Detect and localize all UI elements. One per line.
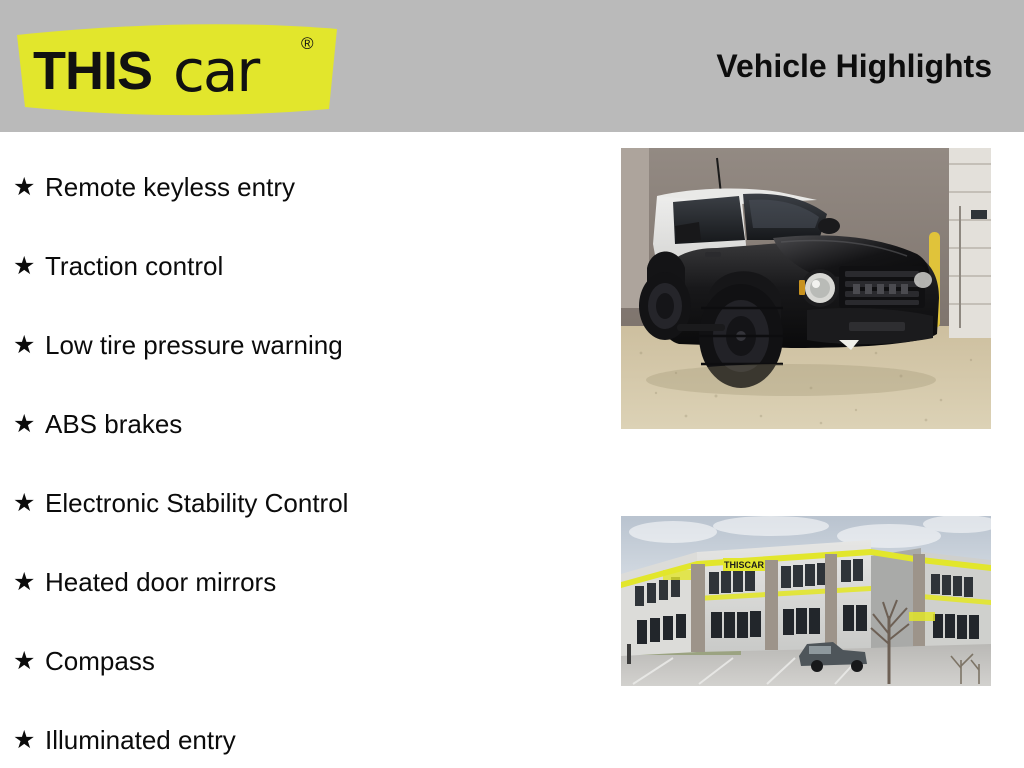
list-item: ★ Traction control (0, 227, 600, 306)
list-item: ★ Heated door mirrors (0, 543, 600, 622)
list-item-label: Remote keyless entry (45, 172, 295, 202)
list-item: ★ Illuminated entry (0, 701, 600, 768)
list-item: ★ ABS brakes (0, 385, 600, 464)
list-item-label: ABS brakes (45, 409, 182, 439)
building-sign-side (909, 612, 935, 621)
star-icon: ★ (13, 701, 35, 768)
star-icon: ★ (13, 148, 35, 227)
star-icon: ★ (13, 464, 35, 543)
list-item-label: Electronic Stability Control (45, 488, 348, 518)
slide-root: THIS car ® Vehicle Highlights ★ Remote k… (0, 0, 1024, 768)
thiscar-logo[interactable]: THIS car ® (11, 19, 343, 119)
star-icon: ★ (13, 385, 35, 464)
dealership-photo[interactable]: THISCAR (621, 516, 991, 686)
star-icon: ★ (13, 227, 35, 306)
lot-pole (627, 644, 631, 664)
building-sign-main: THISCAR (723, 558, 765, 571)
list-item-label: Compass (45, 646, 155, 676)
list-item: ★ Compass (0, 622, 600, 701)
page-title: Vehicle Highlights (716, 48, 992, 85)
list-item: ★ Remote keyless entry (0, 148, 600, 227)
list-item-label: Traction control (45, 251, 223, 281)
vehicle-highlights-list: ★ Remote keyless entry ★ Traction contro… (0, 148, 600, 768)
list-item: ★ Low tire pressure warning (0, 306, 600, 385)
vehicle-photo-image (621, 148, 991, 429)
logo-word-car: car (173, 37, 260, 105)
list-item-label: Illuminated entry (45, 725, 236, 755)
garage-door (949, 148, 991, 338)
logo-registered-mark: ® (301, 34, 314, 53)
dealership-photo-image: THISCAR (621, 516, 991, 686)
list-item-label: Low tire pressure warning (45, 330, 343, 360)
star-icon: ★ (13, 543, 35, 622)
building-sign-text: THISCAR (724, 560, 764, 570)
list-item: ★ Electronic Stability Control (0, 464, 600, 543)
building-sign-secondary (663, 570, 691, 580)
star-icon: ★ (13, 622, 35, 701)
star-icon: ★ (13, 306, 35, 385)
vehicle-photo[interactable] (621, 148, 991, 429)
logo-word-this: THIS (33, 41, 152, 101)
list-item-label: Heated door mirrors (45, 567, 276, 597)
